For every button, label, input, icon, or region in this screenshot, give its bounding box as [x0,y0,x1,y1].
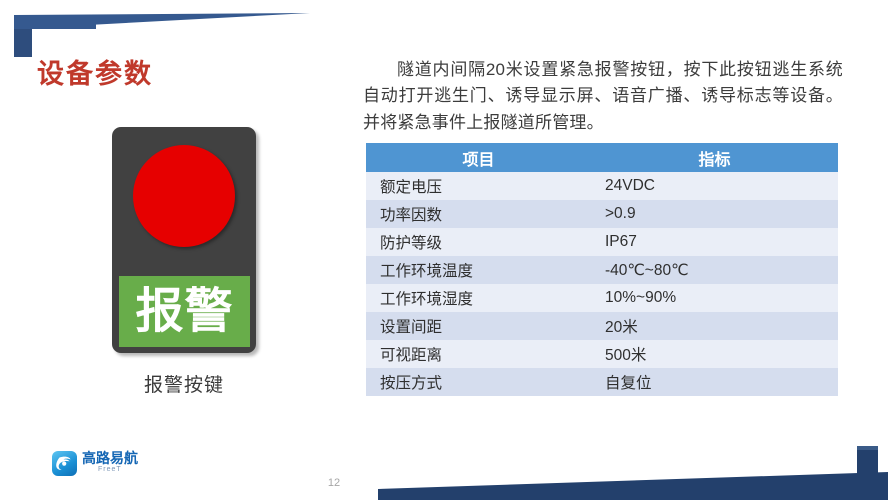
table-header-row: 项目 指标 [366,143,838,172]
table-cell-value: IP67 [591,228,838,256]
table-cell-value: 24VDC [591,172,838,200]
body-paragraph: 隧道内间隔20米设置紧急报警按钮，按下此按钮逃生系统自动打开逃生门、诱导显示屏、… [363,57,843,136]
specification-table: 项目 指标 额定电压24VDC功率因数>0.9防护等级IP67工作环境温度-40… [366,143,838,396]
table-row: 工作环境湿度10%~90% [366,284,838,312]
table-cell-item: 按压方式 [366,368,591,396]
table-row: 功率因数>0.9 [366,200,838,228]
brand-logo: 高路易航 FreeT [52,450,160,478]
device-panel: 报警 [112,127,256,353]
device-caption: 报警按键 [112,370,256,397]
table-cell-item: 工作环境温度 [366,256,591,284]
table-cell-item: 额定电压 [366,172,591,200]
table-cell-item: 功率因数 [366,200,591,228]
table-cell-value: >0.9 [591,200,838,228]
table-row: 防护等级IP67 [366,228,838,256]
alarm-button-illustration: 报警 [112,127,256,353]
bottom-right-decoration [360,430,888,500]
red-led-icon [133,145,235,247]
logo-subtitle: FreeT [98,466,122,473]
table-body: 额定电压24VDC功率因数>0.9防护等级IP67工作环境温度-40℃~80℃工… [366,172,838,396]
device-banner-label: 报警 [135,288,233,336]
top-left-decoration [0,0,320,60]
table-row: 工作环境温度-40℃~80℃ [366,256,838,284]
table-cell-item: 可视距离 [366,340,591,368]
table-cell-item: 防护等级 [366,228,591,256]
table-cell-item: 工作环境湿度 [366,284,591,312]
slide-canvas: 设备参数 报警 报警按键 隧道内间隔20米设置紧急报警按钮，按下此按钮逃生系统自… [0,0,888,500]
table-cell-value: -40℃~80℃ [591,256,838,284]
logo-mark-icon [52,451,77,476]
table-row: 额定电压24VDC [366,172,838,200]
logo-name: 高路易航 [82,450,138,466]
device-banner: 报警 [119,276,250,347]
table-row: 可视距离500米 [366,340,838,368]
table-cell-value: 自复位 [591,368,838,396]
table-cell-value: 500米 [591,340,838,368]
page-number: 12 [322,477,346,489]
table-cell-value: 10%~90% [591,284,838,312]
page-title: 设备参数 [37,52,153,91]
table-header-item: 项目 [366,143,591,172]
table-row: 设置间距20米 [366,312,838,340]
table-cell-value: 20米 [591,312,838,340]
table-header-value: 指标 [591,143,838,172]
table-row: 按压方式自复位 [366,368,838,396]
table-cell-item: 设置间距 [366,312,591,340]
